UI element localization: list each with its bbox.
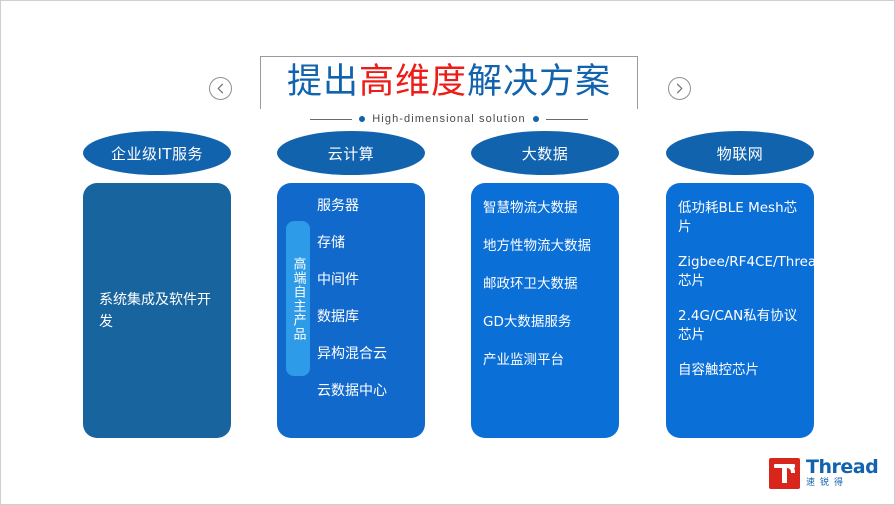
column-body-cloud-computing: 高端自主产品 服务器存储中间件数据库异构混合云云数据中心: [277, 183, 425, 438]
column-enterprise-it: 企业级IT服务 系统集成及软件开发: [83, 131, 231, 438]
brand-name-en: Thread: [806, 458, 878, 477]
list-item: 地方性物流大数据: [483, 237, 611, 256]
list-item: 自容触控芯片: [678, 361, 806, 380]
column-header-enterprise-it[interactable]: 企业级IT服务: [83, 131, 231, 175]
list-item: 邮政环卫大数据: [483, 275, 611, 294]
list-item: 存储: [317, 234, 419, 253]
column-body-enterprise-it: 系统集成及软件开发: [83, 183, 231, 438]
column-big-data: 大数据 智慧物流大数据地方性物流大数据邮政环卫大数据GD大数据服务产业监测平台: [471, 131, 619, 438]
slide-canvas: 提出高维度解决方案 High-dimensional solution 企业级I…: [0, 0, 895, 505]
list-item: 低功耗BLE Mesh芯片: [678, 199, 806, 237]
column-list-iot: 低功耗BLE Mesh芯片Zigbee/RF4CE/Thread芯片2.4G/C…: [678, 199, 806, 396]
brand-logo: Thread 速锐得: [769, 453, 884, 493]
chevron-right-icon[interactable]: [668, 77, 691, 100]
pillar-columns: 企业级IT服务 系统集成及软件开发 云计算 高端自主产品 服务器存储中间件数据库…: [1, 131, 895, 451]
column-body-iot: 低功耗BLE Mesh芯片Zigbee/RF4CE/Thread芯片2.4G/C…: [666, 183, 814, 438]
subtitle-row: High-dimensional solution: [260, 109, 638, 129]
subtitle-dot-left: [359, 116, 365, 122]
column-header-iot[interactable]: 物联网: [666, 131, 814, 175]
list-item: 服务器: [317, 197, 419, 216]
slide-header: 提出高维度解决方案 High-dimensional solution: [1, 27, 895, 107]
chevron-left-icon[interactable]: [209, 77, 232, 100]
column-header-big-data[interactable]: 大数据: [471, 131, 619, 175]
brand-logo-text: Thread 速锐得: [806, 458, 878, 488]
list-item: 数据库: [317, 308, 419, 327]
list-item: Zigbee/RF4CE/Thread芯片: [678, 253, 806, 291]
column-header-cloud-computing[interactable]: 云计算: [277, 131, 425, 175]
column-cloud-computing: 云计算 高端自主产品 服务器存储中间件数据库异构混合云云数据中心: [277, 131, 425, 438]
subtitle-dot-right: [533, 116, 539, 122]
list-item: 智慧物流大数据: [483, 199, 611, 218]
title-segment-leading: 提出: [287, 62, 359, 102]
brand-name-cn: 速锐得: [806, 479, 878, 488]
list-item: 云数据中心: [317, 382, 419, 401]
list-item: 异构混合云: [317, 345, 419, 364]
column-paragraph-enterprise-it: 系统集成及软件开发: [99, 289, 215, 333]
column-iot: 物联网 低功耗BLE Mesh芯片Zigbee/RF4CE/Thread芯片2.…: [666, 131, 814, 438]
title-segment-accent: 高维度: [359, 62, 467, 102]
page-subtitle: High-dimensional solution: [372, 113, 525, 125]
list-item: GD大数据服务: [483, 313, 611, 332]
list-item: 中间件: [317, 271, 419, 290]
column-list-big-data: 智慧物流大数据地方性物流大数据邮政环卫大数据GD大数据服务产业监测平台: [483, 199, 611, 389]
column-list-cloud-computing: 服务器存储中间件数据库异构混合云云数据中心: [317, 197, 419, 419]
column-body-big-data: 智慧物流大数据地方性物流大数据邮政环卫大数据GD大数据服务产业监测平台: [471, 183, 619, 438]
title-segment-trailing: 解决方案: [467, 62, 611, 102]
list-item: 2.4G/CAN私有协议芯片: [678, 307, 806, 345]
subtitle-rule-left: [310, 119, 352, 120]
thread-logo-mark-icon: [769, 458, 800, 489]
subtitle-rule-right: [546, 119, 588, 120]
list-item: 产业监测平台: [483, 351, 611, 370]
column-side-tab-cloud-computing: 高端自主产品: [286, 221, 310, 376]
page-title: 提出高维度解决方案: [260, 58, 638, 106]
